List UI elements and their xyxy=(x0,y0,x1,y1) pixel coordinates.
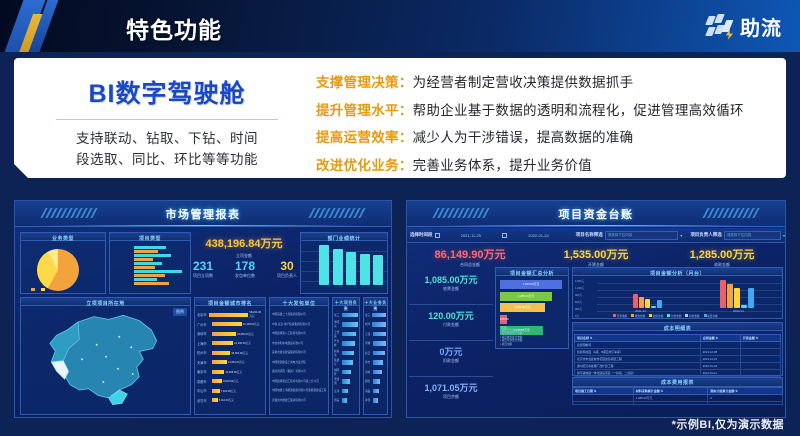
list-item: 深圳市建业建设集团有限公司 xyxy=(272,348,326,358)
summary-bar: 120.00万元 xyxy=(500,315,507,324)
table-row[interactable]: 总部预制场 xyxy=(575,342,781,349)
kpi-item: 0万元 扣款金额 xyxy=(409,341,493,377)
top-project-owner-list: 张三李晓东王伟民严立峰赵先生陈建军胡明轩李建国汪洋周兵 xyxy=(334,310,358,405)
kpi-label: 收票金额 xyxy=(409,286,493,292)
table-cell: 2021-12-15 xyxy=(700,356,740,363)
table-cell: 2022-01-11 xyxy=(700,370,740,377)
monthly-bars-right xyxy=(720,274,754,308)
kpi-item: 178 发包单位数 xyxy=(235,259,255,279)
list-item: 中国建筑第四工程局有限公司第二分公司 xyxy=(272,377,326,387)
owner-name: 刘洋 xyxy=(365,322,371,326)
bi-cockpit-subtitle: 支持联动、钻取、下钻、时间 段选取、同比、环比等等功能 xyxy=(36,128,298,170)
left-hero-block: 438,196.84万元 立项金额 xyxy=(195,235,293,259)
list-item: 中国能源建设上海电力设计院 xyxy=(272,358,326,368)
list-item: 武汉市5,110.00万元 xyxy=(197,396,263,406)
filter-project-select[interactable]: 请选择下拉内容 xyxy=(605,231,679,240)
card-left-column: BI数字驾驶舱 支持联动、钻取、下钻、时间 段选取、同比、环比等等功能 xyxy=(36,74,298,170)
city-value: 21,330.00万元 xyxy=(234,341,251,345)
list-item: 周兵 xyxy=(334,396,358,406)
owner-name: 吴峰 xyxy=(365,370,372,374)
table-cell: 创新科技园（A座、B座及地下车库） xyxy=(575,349,701,356)
dashboard-left-header: 市场管理报表 xyxy=(15,201,391,227)
table-cell xyxy=(573,402,634,405)
list-item: 天津市14,551.00万元 xyxy=(197,358,263,368)
table-header-cell[interactable]: 材料采购累计金额 ⇅ xyxy=(633,388,708,395)
monthly-bars-left xyxy=(633,274,662,308)
panel-project-location-map[interactable]: 立项项目所在地 图例 xyxy=(20,297,191,415)
filter-date-range[interactable]: 选择时间段 2021-11-25 2022-01-24 xyxy=(410,232,568,238)
kpi-item: 231 项目立项数 xyxy=(193,259,213,279)
filter-project-name[interactable]: 项目名称筛选 请选择下拉内容 ▾ xyxy=(576,231,683,240)
table-cell xyxy=(708,402,783,405)
hero-item: 1,285.00万元 收款金额 xyxy=(659,246,785,268)
owner-name: 王伟民 xyxy=(334,330,341,338)
list-item: 上海市21,330.00万元 xyxy=(197,339,263,349)
city-bar xyxy=(212,370,224,374)
owner-name: 孙杰 xyxy=(365,360,372,364)
city-value: 7,220.00万元 xyxy=(221,389,236,393)
city-value: 9,640.00万元 xyxy=(223,379,238,383)
owner-name: 郑浩 xyxy=(365,379,372,383)
list-item: 湖北省鄂西（集团）有限公司 xyxy=(272,367,326,377)
table-header-row: 项目名称 ⇅合同金额 ⇅开票金额 ⇅ xyxy=(575,335,781,342)
list-item: 杭州市18,002.00万元 xyxy=(197,348,263,358)
list-item: 陈建军 xyxy=(334,358,358,368)
benefit-label: 提升管理水平 xyxy=(316,99,399,119)
city-value: 24,660.00万元 xyxy=(237,332,254,336)
table-cell: 常平镇城镇一体化建设项目（一标段、二标段） xyxy=(575,370,701,377)
table-cell xyxy=(740,363,780,370)
china-map-icon xyxy=(27,310,185,410)
hero-item: 86,149.90万元 合同总金额 xyxy=(407,246,533,268)
owner-bar xyxy=(373,379,380,384)
owner-name: 赵云 xyxy=(365,351,372,355)
calendar-icon[interactable] xyxy=(435,233,440,238)
kpi-item: 1,085.00万元 收票金额 xyxy=(409,269,493,305)
legend-item: 收票金额 xyxy=(649,314,663,318)
legend-item: 扣款金额 xyxy=(685,314,699,318)
panel-dept-performance[interactable]: 部门业绩统计 xyxy=(300,232,388,294)
kpi-label: 发包单位数 xyxy=(235,273,255,279)
owner-name: 李娜 xyxy=(365,341,372,345)
city-value: 5,110.00万元 xyxy=(219,398,234,402)
owner-bar xyxy=(373,351,385,356)
panel-city-amount-rank[interactable]: 项目金额城市排名 北京市58,204.00万元广州市31,108.00万元深圳市… xyxy=(194,297,266,415)
title-divider xyxy=(56,119,278,120)
owner-bar xyxy=(342,313,358,318)
dashboard-market-report[interactable]: 市场管理报表 业务类型 项目类型 438,196.84万元 立项金额 xyxy=(14,200,392,418)
list-item: 严立峰 xyxy=(334,339,358,349)
owner-bar xyxy=(342,398,347,403)
panel-top-contractors-title: 十大发包单位 xyxy=(270,298,328,307)
dashboard-right-title: 项目资金台账 xyxy=(407,206,785,222)
kpi-value: 1,071.05万元 xyxy=(409,381,493,394)
panel-amount-summary[interactable]: 项目金额汇总分析 1,535.00万元1,285.00万元1,085.00万元1… xyxy=(495,267,569,349)
owner-name: 冯磊 xyxy=(365,389,372,393)
legend-item: 开票金额 xyxy=(613,314,627,318)
table-header-cell[interactable]: 合同金额 ⇅ xyxy=(700,335,740,342)
city-name: 天津市 xyxy=(197,360,211,365)
filter-owner-label: 项目负责人筛选 xyxy=(690,232,722,238)
kpi-value: 1,085.00万元 xyxy=(409,273,493,286)
owner-bar xyxy=(373,360,383,365)
bi-subtitle-line-1: 支持联动、钻取、下钻、时间 xyxy=(36,128,298,149)
hero-item: 1,535.00万元 开票金额 xyxy=(533,246,659,268)
table-row[interactable]: 创新科技园（A座、B座及地下车库）2021-12-08 xyxy=(575,349,781,356)
table-cell xyxy=(740,356,780,363)
panel-monthly-amount-analysis[interactable]: 项目金额分析（月台） 1,500万1,200万900万600万300万0万 20… xyxy=(572,267,783,319)
list-item: 胡明轩 xyxy=(334,367,358,377)
benefit-text: 帮助企业基于数据的透明和流程化，促进管理高效循环 xyxy=(413,99,744,119)
kpi-value: 120.00万元 xyxy=(409,309,493,322)
filter-date-to[interactable]: 2022-01-24 xyxy=(509,233,568,238)
owner-name: 周兵 xyxy=(334,398,341,402)
list-item: 赵先生 xyxy=(334,348,358,358)
top-contractor-list: 中国铁建二十局集团有限公司中铁·武汉·地产投资集团有限公司中国建筑第八工程局有限… xyxy=(272,310,326,405)
owner-name: 张三 xyxy=(334,313,341,317)
filter-owner[interactable]: 项目负责人筛选 请选择下拉内容 ▾ xyxy=(690,231,785,240)
table-header-cell[interactable]: 项目名称 ⇅ xyxy=(575,335,701,342)
city-name: 武汉市 xyxy=(197,398,211,403)
benefit-text: 为经营者制定营收决策提供数据抓手 xyxy=(413,71,634,91)
table-row[interactable] xyxy=(573,402,783,405)
dashboard-left-title: 市场管理报表 xyxy=(15,206,391,222)
panel-business-type[interactable]: 业务类型 xyxy=(20,232,106,294)
list-item: 李晓东 xyxy=(334,320,358,330)
list-item: 中山市7,220.00万元 xyxy=(197,386,263,396)
table-header-cell[interactable]: 项目施工日期 ⇅ xyxy=(573,388,634,395)
table-header-cell[interactable]: 开票金额 ⇅ xyxy=(740,335,780,342)
panel-top-project-owners[interactable]: 十大项目负责 张三李晓东王伟民严立峰赵先生陈建军胡明轩李建国汪洋周兵 xyxy=(332,297,360,415)
monthly-bar xyxy=(734,288,740,308)
left-kpi-row: 231 项目立项数 178 发包单位数 30 项目负责人 xyxy=(193,259,297,279)
list-item: 中铁·武汉·地产投资集团有限公司 xyxy=(272,320,326,330)
filter-owner-select[interactable]: 请选择下拉内容 xyxy=(724,231,781,240)
owner-name: 王强 xyxy=(365,332,372,336)
monthly-xtick-1: 2021-12 xyxy=(635,309,646,313)
y-tick: 0万 xyxy=(575,314,584,321)
benefit-text: 减少人为干涉错误，提高数据的准确 xyxy=(413,126,634,146)
city-bar xyxy=(212,322,242,326)
summary-bar: 1,535.00万元 xyxy=(500,280,562,289)
filter-date-from[interactable]: 2021-11-25 xyxy=(442,233,501,238)
table-cell xyxy=(700,342,740,349)
right-hero-row: 86,149.90万元 合同总金额 1,535.00万元 开票金额 1,285.… xyxy=(407,246,785,268)
hero-value: 1,535.00万元 xyxy=(533,246,659,262)
list-item: 许伟 xyxy=(365,396,386,406)
benefit-item: 提高运营效率 ： 减少人为干涉错误，提高数据的准确 xyxy=(316,126,744,146)
city-name: 广州市 xyxy=(197,322,211,327)
city-rank-list: 北京市58,204.00万元广州市31,108.00万元深圳市24,660.00… xyxy=(197,310,263,405)
panel-project-type-title: 项目类型 xyxy=(110,233,190,242)
summary-bar: 1,085.00万元 xyxy=(500,303,545,312)
city-bar xyxy=(212,341,233,345)
owner-bar xyxy=(373,389,379,394)
table-row[interactable]: 通州区污水处理厂改扩建工程2022-01-04 xyxy=(575,363,781,370)
table-cell: 0 xyxy=(708,395,783,402)
chevron-down-icon[interactable]: ▾ xyxy=(680,233,682,238)
benefit-colon: ： xyxy=(399,71,413,91)
dashboard-right-header: 项目资金台账 xyxy=(407,201,785,227)
benefit-item: 提升管理水平 ： 帮助企业基于数据的透明和流程化，促进管理高效循环 xyxy=(316,99,744,119)
city-value: 31,108.00万元 xyxy=(243,322,260,326)
table-cell xyxy=(740,370,780,377)
owner-name: 张三 xyxy=(365,313,371,317)
kpi-value: 178 xyxy=(235,259,255,273)
list-item: 南京市11,908.00万元 xyxy=(197,367,263,377)
page-title: 特色功能 xyxy=(126,11,222,45)
list-item: 中国铁建二十局集团有限公司 xyxy=(272,310,326,320)
y-tick: 1,200万 xyxy=(575,286,584,293)
panel-city-rank-title: 项目金额城市排名 xyxy=(195,298,265,307)
list-item: 郑浩 xyxy=(365,377,386,387)
table-cell: 北京市丰台区城市花园改造项目工程 xyxy=(575,356,701,363)
owner-bar xyxy=(342,322,358,327)
benefit-colon: ： xyxy=(399,154,413,174)
owner-name: 李建国 xyxy=(334,377,341,385)
owner-name: 李晓东 xyxy=(334,320,341,328)
benefit-colon: ： xyxy=(399,99,413,119)
kpi-label: 项目负责人 xyxy=(277,273,297,279)
table-cell: 通州区污水处理厂改扩建工程 xyxy=(575,363,701,370)
list-item: 汪洋 xyxy=(334,386,358,396)
header-slash-decoration xyxy=(8,0,118,52)
owner-bar xyxy=(373,341,386,346)
city-name: 上海市 xyxy=(197,341,211,346)
y-tick: 1,500万 xyxy=(575,279,584,286)
list-item: 中国电建上海能源装备有限公司新能源建设工程总承包部 xyxy=(272,386,326,396)
city-name: 深圳市 xyxy=(197,331,211,336)
list-item: 吴峰 xyxy=(365,367,386,377)
table-cell: 2022-01-04 xyxy=(700,363,740,370)
list-item: 张三 xyxy=(334,310,358,320)
panel-cost-report-title: 成本费用报表 xyxy=(573,378,782,386)
panel-amount-summary-title: 项目金额汇总分析 xyxy=(496,268,568,277)
city-name: 成都市 xyxy=(197,379,211,384)
list-item: 李建国 xyxy=(334,377,358,387)
owner-name: 许伟 xyxy=(365,398,372,402)
city-value: 11,908.00万元 xyxy=(225,370,242,374)
panel-detail-table-title: 成本明细表 xyxy=(573,323,782,332)
kpi-label: 付款金额 xyxy=(409,322,493,328)
pie-legend xyxy=(31,288,45,291)
monthly-yaxis: 1,500万1,200万900万600万300万0万 xyxy=(575,279,584,321)
panel-business-type-title: 业务类型 xyxy=(21,233,105,242)
summary-legend: • 项目开票累计金额• 项目收款累计金额• 项目收票累计金额• 项目付款累计金额… xyxy=(500,329,522,346)
table-row[interactable]: 常平镇城镇一体化建设项目（一标段、二标段）2022-01-11 xyxy=(575,370,781,377)
city-bar xyxy=(212,332,236,336)
owner-bar xyxy=(373,398,378,403)
y-tick: 600万 xyxy=(575,300,584,307)
kpi-label: 扣款金额 xyxy=(409,358,493,364)
city-value: 18,002.00万元 xyxy=(231,351,248,355)
list-item: 王伟民 xyxy=(334,329,358,339)
dept-perf-bars xyxy=(319,241,383,285)
y-tick: 900万 xyxy=(575,293,584,300)
cost-report-title-bar: 成本费用报表 xyxy=(572,377,783,387)
owner-bar xyxy=(342,341,355,346)
benefit-item: 改进优化业务 ： 完善业务体系，提升业务价值 xyxy=(316,154,744,174)
benefit-item: 支撑管理决策 ： 为经营者制定营收决策提供数据抓手 xyxy=(316,71,744,91)
owner-bar xyxy=(373,332,386,337)
city-name: 北京市 xyxy=(197,312,208,317)
helix-logo-icon xyxy=(706,13,733,40)
legend-item: • 项目余额 xyxy=(500,343,522,346)
monthly-bar xyxy=(727,284,733,308)
legend-item: 项目余额 xyxy=(704,314,718,318)
list-item: 北京市58,204.00万元 xyxy=(197,310,263,320)
list-item: 成都市9,640.00万元 xyxy=(197,377,263,387)
bi-subtitle-line-2: 段选取、同比、环比等等功能 xyxy=(36,149,298,170)
owner-name: 胡明轩 xyxy=(334,368,341,376)
owner-bar xyxy=(372,322,386,327)
table-cell: 1,085.00万元 xyxy=(633,395,708,402)
owner-bar xyxy=(342,351,354,356)
panel-top-contractors[interactable]: 十大发包单位 中国铁建二十局集团有限公司中铁·武汉·地产投资集团有限公司中国建筑… xyxy=(269,297,329,415)
city-bar xyxy=(209,313,248,317)
filter-bar[interactable]: 选择时间段 2021-11-25 2022-01-24 项目名称筛选 请选择下拉… xyxy=(407,228,785,243)
table-cell xyxy=(740,342,780,349)
owner-name: 汪洋 xyxy=(334,389,341,393)
right-kpi-column: 1,085.00万元 收票金额 120.00万元 付款金额 0万元 扣款金额 1… xyxy=(409,269,493,411)
hero-value: 86,149.90万元 xyxy=(407,246,533,262)
owner-bar xyxy=(342,370,351,375)
page-header: 特色功能 助流 xyxy=(0,0,800,52)
monthly-bar xyxy=(748,288,754,308)
list-item: 安徽省中鼎建工集团有限公司 xyxy=(272,396,326,406)
table-cell: 2021-12-08 xyxy=(700,349,740,356)
list-item: 刘洋 xyxy=(365,320,386,330)
table-header-cell[interactable]: 期末计提累计金额 ⇅ xyxy=(708,388,783,395)
list-item: 赵云 xyxy=(365,348,386,358)
brand-name: 助流 xyxy=(740,12,782,41)
kpi-label: 项目立项数 xyxy=(193,273,213,279)
benefit-list: 支撑管理决策 ： 为经营者制定营收决策提供数据抓手 提升管理水平 ： 帮助企业基… xyxy=(316,71,744,181)
pie-chart xyxy=(37,249,79,291)
list-item: 李娜 xyxy=(365,339,386,349)
owner-bar xyxy=(373,370,382,375)
kpi-item: 120.00万元 付款金额 xyxy=(409,305,493,341)
table-cell: 总部预制场 xyxy=(575,342,701,349)
city-name: 中山市 xyxy=(197,388,211,393)
kpi-value: 0万元 xyxy=(409,345,493,358)
panel-top-business-owners[interactable]: 十大业务负责 张三刘洋王强李娜赵云孙杰吴峰郑浩冯磊许伟 xyxy=(363,297,388,415)
kpi-value: 30 xyxy=(277,259,297,273)
hero-value: 1,285.00万元 xyxy=(659,246,785,262)
city-value: 14,551.00万元 xyxy=(228,360,245,364)
benefit-colon: ： xyxy=(399,126,413,146)
cost-table[interactable]: 项目施工日期 ⇅材料采购累计金额 ⇅期末计提累计金额 ⇅1,085.00万元0 xyxy=(572,387,783,405)
y-tick: 300万 xyxy=(575,307,584,314)
filter-project-label: 项目名称筛选 xyxy=(576,232,603,238)
list-item: 广州市31,108.00万元 xyxy=(197,320,263,330)
table-row[interactable]: 1,085.00万元0 xyxy=(573,395,783,402)
owner-bar xyxy=(342,332,356,337)
demo-footnote: *示例BI,仅为演示数据 xyxy=(672,416,784,432)
list-item: 王强 xyxy=(365,329,386,339)
monthly-bar xyxy=(720,280,726,308)
monthly-legend: 开票金额 收款金额 收票金额 付款金额 扣款金额 项目余额 xyxy=(613,314,718,318)
legend-item: 收款金额 xyxy=(631,314,645,318)
calendar-icon-2[interactable] xyxy=(502,233,507,238)
monthly-bar xyxy=(741,305,747,308)
table-row[interactable]: 北京市丰台区城市花园改造项目工程2021-12-15 xyxy=(575,356,781,363)
list-item: 深圳市24,660.00万元 xyxy=(197,329,263,339)
owner-name: 陈建军 xyxy=(334,358,341,366)
owner-bar xyxy=(372,313,386,318)
city-name: 南京市 xyxy=(197,369,211,374)
city-bar xyxy=(212,389,220,393)
kpi-item: 30 项目负责人 xyxy=(277,259,297,279)
benefit-label: 改进优化业务 xyxy=(316,154,399,174)
benefit-text: 完善业务体系，提升业务价值 xyxy=(413,154,592,174)
owner-name: 赵先生 xyxy=(334,349,341,357)
list-item: 孙杰 xyxy=(365,358,386,368)
list-item: 冯磊 xyxy=(365,386,386,396)
dashboard-project-funds-ledger[interactable]: 项目资金台账 选择时间段 2021-11-25 2022-01-24 项目名称筛… xyxy=(406,200,786,418)
owner-bar xyxy=(342,389,348,394)
feature-card: BI数字驾驶舱 支持联动、钻取、下钻、时间 段选取、同比、环比等等功能 支撑管理… xyxy=(14,58,786,178)
city-bar xyxy=(212,360,227,364)
kpi-value: 231 xyxy=(193,259,213,273)
panel-cost-detail-table[interactable]: 成本明细表 项目名称 ⇅合同金额 ⇅开票金额 ⇅总部预制场创新科技园（A座、B座… xyxy=(572,322,783,376)
project-type-bars xyxy=(134,246,187,286)
list-item: 张三 xyxy=(365,310,386,320)
list-item: 中交水利水电建设有限公司 xyxy=(272,339,326,349)
brand-logo: 助流 xyxy=(706,12,782,41)
panel-project-type[interactable]: 项目类型 xyxy=(109,232,191,294)
bi-cockpit-title: BI数字驾驶舱 xyxy=(36,74,298,110)
panel-map-title: 立项项目所在地 xyxy=(21,298,190,307)
filter-date-label: 选择时间段 xyxy=(410,232,433,238)
city-bar xyxy=(212,398,218,402)
city-bar xyxy=(212,379,222,383)
table-cell xyxy=(633,402,708,405)
city-value: 58,204.00万元 xyxy=(249,311,263,318)
table-cell xyxy=(573,395,634,402)
kpi-item: 1,071.05万元 项目余额 xyxy=(409,377,493,411)
legend-item: 付款金额 xyxy=(667,314,681,318)
summary-bar: 1,285.00万元 xyxy=(500,292,552,301)
list-item: 中国建筑第八工程局有限公司 xyxy=(272,329,326,339)
top-business-owner-list: 张三刘洋王强李娜赵云孙杰吴峰郑浩冯磊许伟 xyxy=(365,310,386,405)
owner-bar xyxy=(342,360,353,365)
benefit-label: 提高运营效率 xyxy=(316,126,399,146)
table-cell xyxy=(740,349,780,356)
chevron-down-icon-2[interactable]: ▾ xyxy=(783,233,785,238)
monthly-xtick-2: 2022-01 xyxy=(733,309,744,313)
owner-name: 严立峰 xyxy=(334,339,341,347)
kpi-label: 项目余额 xyxy=(409,394,493,400)
city-bar xyxy=(212,351,230,355)
city-name: 杭州市 xyxy=(197,350,211,355)
hero-value: 438,196.84万元 xyxy=(195,235,293,251)
table-header-row: 项目施工日期 ⇅材料采购累计金额 ⇅期末计提累计金额 ⇅ xyxy=(573,388,783,395)
owner-bar xyxy=(342,379,350,384)
benefit-label: 支撑管理决策 xyxy=(316,71,399,91)
